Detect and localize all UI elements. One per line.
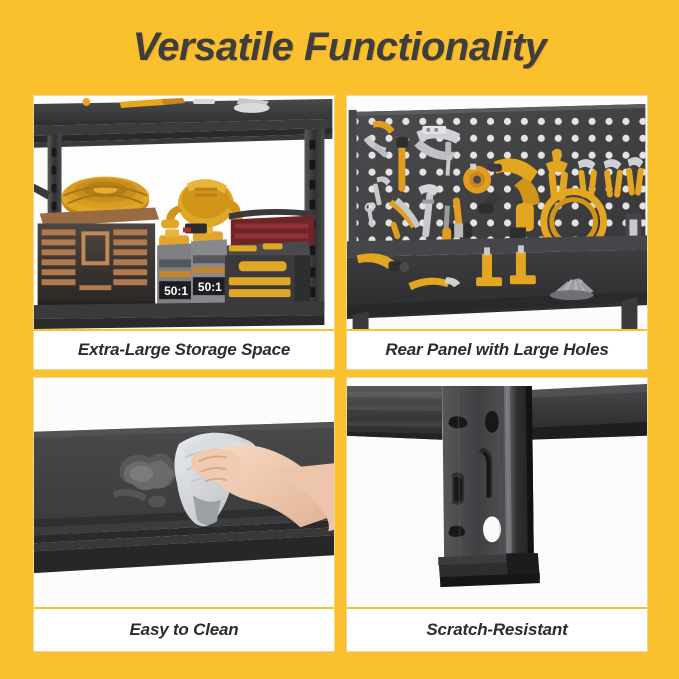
caption-text: Extra-Large Storage Space [78,340,290,360]
feature-card-storage: 50:1 50:1 [33,95,335,370]
storage-scene-illustration: 50:1 50:1 [34,96,334,329]
shelf-post-closeup-photo [347,378,647,607]
caption-text: Rear Panel with Large Holes [385,340,608,360]
feature-card-scratch-resistant: Scratch-Resistant [346,377,648,652]
feature-grid: 50:1 50:1 [33,95,648,652]
svg-text:50:1: 50:1 [198,280,222,294]
feature-card-easy-clean: Easy to Clean [33,377,335,652]
toolbox-handle [239,261,287,271]
slot-hole-upper [485,411,499,433]
wiping-tabletop-photo [34,378,334,607]
pegboard-with-tools-photo [347,96,647,329]
easy-clean-scene-illustration [34,378,334,607]
slot-hole-lower [483,516,501,542]
caption-scratch-resistant: Scratch-Resistant [347,607,647,651]
feature-card-rear-panel: Rear Panel with Large Holes [346,95,648,370]
left-beam [347,386,442,440]
caption-text: Easy to Clean [130,620,239,640]
right-beam [530,384,647,440]
pegboard-scene-illustration [347,96,647,329]
title-bar: Versatile Functionality [0,0,679,95]
black-yellow-tool-box [225,241,311,305]
foot-cap [438,553,540,587]
caption-easy-clean: Easy to Clean [34,607,334,651]
workbench-shelf-with-storage-photo: 50:1 50:1 [34,96,334,329]
caption-text: Scratch-Resistant [426,620,567,640]
infographic-page: Versatile Functionality [0,0,679,679]
page-title: Versatile Functionality [133,25,547,70]
upright-post [442,386,534,567]
caption-storage: Extra-Large Storage Space [34,329,334,369]
pegboard-left-bracket [349,110,357,249]
scratch-resistant-scene-illustration [347,378,647,607]
svg-text:50:1: 50:1 [164,284,188,298]
caption-rear-panel: Rear Panel with Large Holes [347,329,647,369]
lower-shelf [34,301,324,329]
